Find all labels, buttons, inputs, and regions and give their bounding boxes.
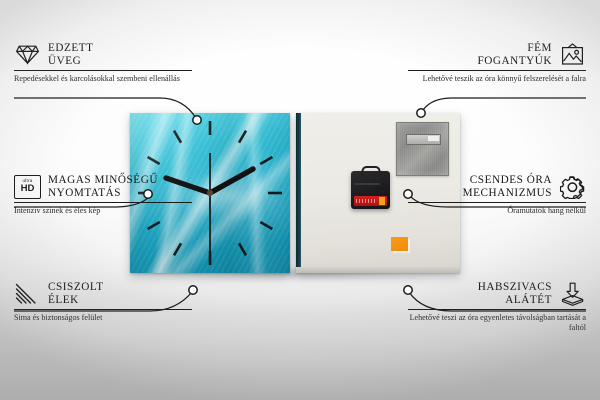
panel-bottom-lip <box>296 267 460 273</box>
callout-foam-pad: HABSZIVACS ALÁTÉT Lehetővé teszi az óra … <box>408 281 586 334</box>
callout-title: HABSZIVACS ALÁTÉT <box>478 281 552 306</box>
callout-metal-handles: FÉM FOGANTYÚK Lehetővé teszik az óra kön… <box>408 42 586 84</box>
callout-header: ultra HD MAGAS MINŐSÉGŰ NYOMTATÁS <box>14 174 192 199</box>
product-infographic: EDZETT ÜVEG Repedésekkel és karcolásokka… <box>0 0 600 400</box>
ultra-hd-badge-icon: ultra HD <box>14 174 41 199</box>
diamond-icon <box>14 42 41 67</box>
callout-header: HABSZIVACS ALÁTÉT <box>408 281 586 306</box>
callout-subtitle: Lehetővé teszik az óra könnyű felszerelé… <box>408 74 586 84</box>
arrow-onto-pad-icon <box>559 281 586 306</box>
hanger-slot <box>406 134 441 145</box>
callout-title: FÉM FOGANTYÚK <box>477 42 552 67</box>
hd-badge: ultra HD <box>14 175 41 199</box>
callout-subtitle: Repedésekkel és karcolásokkal szembeni e… <box>14 74 192 84</box>
callout-title: CSENDES ÓRA MECHANIZMUS <box>463 174 552 199</box>
battery <box>354 196 387 206</box>
callout-divider <box>408 309 586 310</box>
foam-spacer-pad <box>391 237 408 251</box>
callout-title: EDZETT ÜVEG <box>48 42 94 67</box>
callout-tempered-glass: EDZETT ÜVEG Repedésekkel és karcolásokka… <box>14 42 192 84</box>
silent-clock-movement <box>351 171 390 209</box>
panel-left-edge <box>296 113 301 273</box>
diagonal-lines-icon <box>14 281 41 306</box>
callout-subtitle: Óramutatók hang nélkül <box>408 206 586 216</box>
callout-header: CSISZOLT ÉLEK <box>14 281 192 306</box>
callout-header: FÉM FOGANTYÚK <box>408 42 586 67</box>
callout-header: EDZETT ÜVEG <box>14 42 192 67</box>
callout-divider <box>14 202 192 203</box>
callout-divider <box>408 202 586 203</box>
callout-title: CSISZOLT ÉLEK <box>48 281 104 306</box>
picture-frame-hanger-icon <box>559 42 586 67</box>
gear-icon <box>559 174 586 199</box>
hd-badge-large-label: HD <box>21 184 35 194</box>
callout-silent-mechanism: CSENDES ÓRA MECHANIZMUS Óramutatók hang … <box>408 174 586 216</box>
movement-groove <box>354 183 380 185</box>
callout-divider <box>14 309 192 310</box>
callout-divider <box>14 70 192 71</box>
movement-hanging-loop <box>361 166 380 176</box>
callout-subtitle: Lehetővé teszi az óra egyenletes távolsá… <box>408 313 586 333</box>
callout-sanded-edges: CSISZOLT ÉLEK Sima és biztonságos felüle… <box>14 281 192 323</box>
callout-header: CSENDES ÓRA MECHANIZMUS <box>408 174 586 199</box>
metal-hanger-plate <box>396 122 449 176</box>
callout-hd-print: ultra HD MAGAS MINŐSÉGŰ NYOMTATÁS Intenz… <box>14 174 192 216</box>
callout-subtitle: Intenzív színek és éles kép <box>14 206 192 216</box>
callout-divider <box>408 70 586 71</box>
callout-title: MAGAS MINŐSÉGŰ NYOMTATÁS <box>48 174 158 199</box>
callout-subtitle: Sima és biztonságos felület <box>14 313 192 323</box>
battery-positive-tip <box>379 197 385 205</box>
